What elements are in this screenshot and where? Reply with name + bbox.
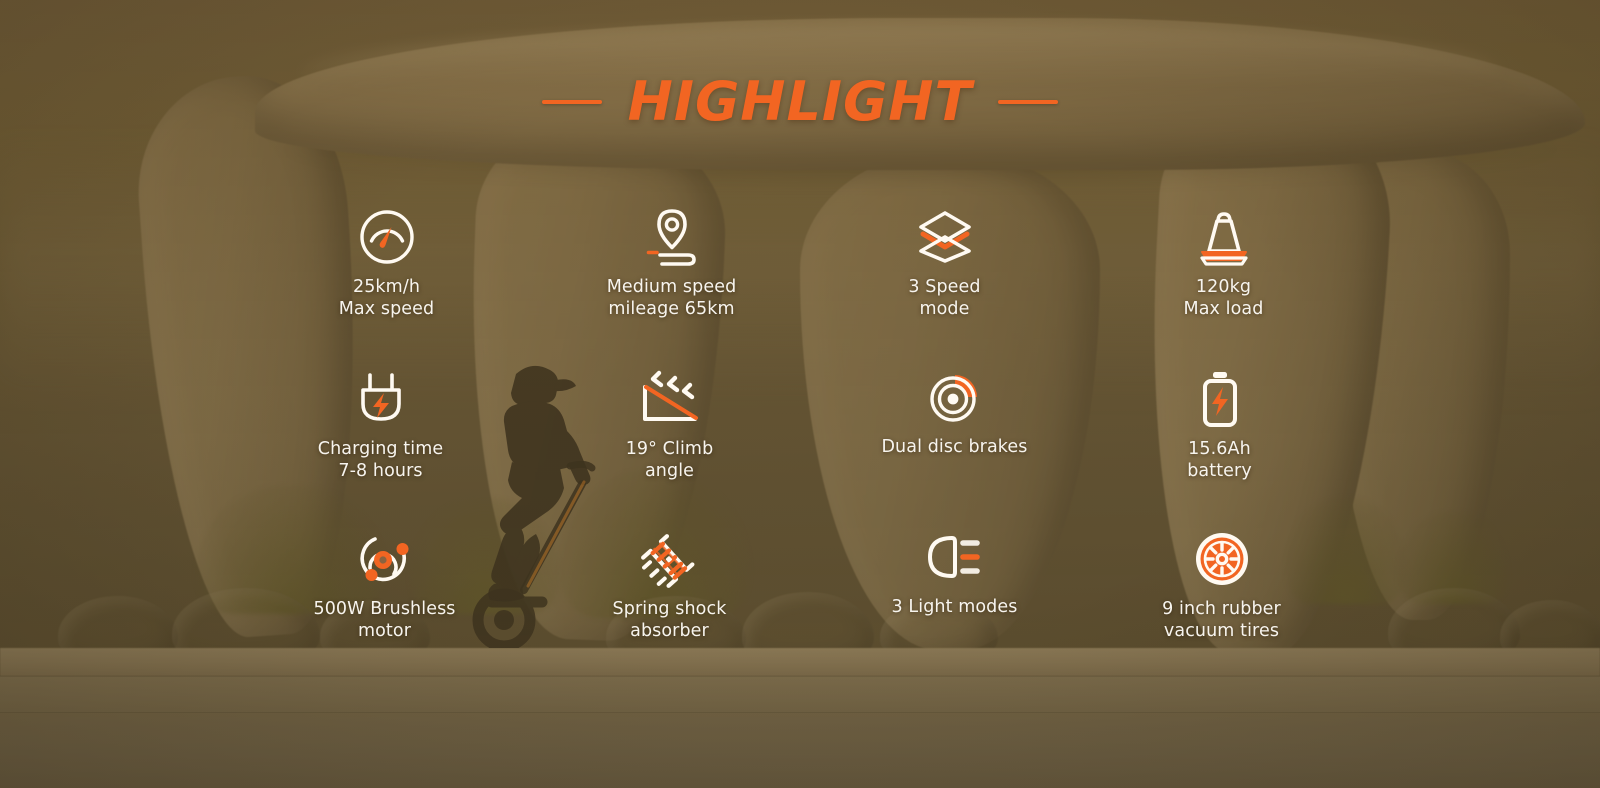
feature-mileage: Medium speed mileage 65km — [533, 206, 810, 368]
feature-battery: 15.6Ah battery — [1081, 368, 1358, 528]
feature-caption: 500W Brushless motor — [313, 599, 455, 642]
disc-brake-icon — [924, 366, 986, 428]
brushless-motor-icon — [354, 528, 416, 590]
feature-row: 25km/h Max speed Medium speed mileage 65… — [248, 206, 1356, 368]
battery-icon — [1189, 368, 1251, 430]
feature-max-load: 120kg Max load — [1085, 206, 1362, 368]
feature-caption: 19° Climb angle — [626, 439, 714, 482]
title-dash-right-icon — [998, 100, 1058, 104]
feature-climb-angle: 19° Climb angle — [531, 368, 808, 528]
feature-caption: Charging time 7-8 hours — [318, 439, 444, 482]
feature-caption: 3 Light modes — [892, 597, 1018, 619]
headlight-icon — [924, 526, 986, 588]
feature-motor: 500W Brushless motor — [246, 528, 523, 688]
feature-tires: 9 inch rubber vacuum tires — [1083, 528, 1360, 688]
feature-disc-brakes: Dual disc brakes — [816, 368, 1093, 528]
feature-shock-absorber: Spring shock absorber — [531, 528, 808, 688]
feature-caption: Dual disc brakes — [881, 437, 1027, 459]
feature-grid: 25km/h Max speed Medium speed mileage 65… — [248, 206, 1356, 688]
charging-plug-icon — [350, 368, 412, 430]
title-dash-left-icon — [542, 100, 602, 104]
feature-charging-time: Charging time 7-8 hours — [242, 368, 519, 528]
tire-wheel-icon — [1191, 528, 1253, 590]
weight-icon — [1193, 206, 1255, 268]
feature-caption: 25km/h Max speed — [339, 277, 435, 320]
page-title-text: HIGHLIGHT — [628, 70, 973, 133]
layers-stack-icon — [914, 206, 976, 268]
feature-caption: 3 Speed mode — [908, 277, 980, 320]
feature-caption: 120kg Max load — [1184, 277, 1264, 320]
highlight-banner: HIGHLIGHT 25km/h Max speed — [0, 0, 1600, 788]
speedometer-icon — [356, 206, 418, 268]
feature-caption: 9 inch rubber vacuum tires — [1162, 599, 1281, 642]
feature-light-modes: 3 Light modes — [816, 528, 1093, 688]
feature-caption: Medium speed mileage 65km — [607, 277, 737, 320]
spring-shock-absorber-icon — [639, 528, 701, 590]
content-layer: HIGHLIGHT 25km/h Max speed — [0, 0, 1600, 788]
feature-row: 500W Brushless motor — [248, 528, 1356, 688]
page-title: HIGHLIGHT — [0, 70, 1600, 133]
feature-caption: Spring shock absorber — [613, 599, 727, 642]
feature-max-speed: 25km/h Max speed — [248, 206, 525, 368]
feature-speed-mode: 3 Speed mode — [806, 206, 1083, 368]
climb-angle-icon — [639, 368, 701, 430]
location-pin-route-icon — [641, 206, 703, 268]
feature-row: Charging time 7-8 hours 19° Climb angle — [248, 368, 1356, 528]
feature-caption: 15.6Ah battery — [1187, 439, 1252, 482]
